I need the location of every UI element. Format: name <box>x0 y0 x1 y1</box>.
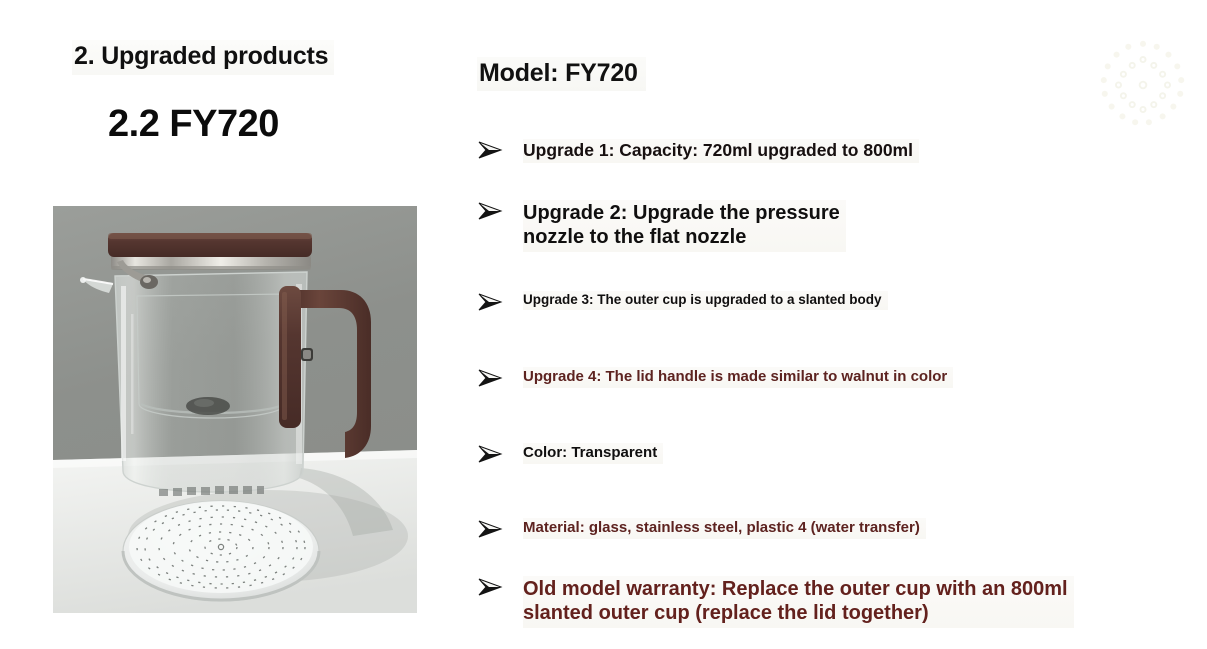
arrow-bullet-icon <box>477 444 507 464</box>
list-item-label: Upgrade 3: The outer cup is upgraded to … <box>523 291 888 310</box>
product-photo <box>53 206 417 613</box>
arrow-bullet-icon <box>477 292 507 312</box>
list-item: Upgrade 4: The lid handle is made simila… <box>477 367 953 388</box>
arrow-bullet-icon <box>477 368 507 388</box>
slide-canvas: 2. Upgraded products 2.2 FY720 <box>0 0 1207 649</box>
section-heading: 2. Upgraded products <box>72 40 334 75</box>
list-item-label: Upgrade 1: Capacity: 720ml upgraded to 8… <box>523 139 919 163</box>
list-item: Upgrade 2: Upgrade the pressure nozzle t… <box>477 200 846 252</box>
list-item: Upgrade 3: The outer cup is upgraded to … <box>477 291 888 311</box>
list-item: Old model warranty: Replace the outer cu… <box>477 576 1074 628</box>
page-title: 2.2 FY720 <box>108 103 279 146</box>
list-item-label: Old model warranty: Replace the outer cu… <box>523 576 1074 628</box>
list-item: Color: Transparent <box>477 443 663 464</box>
arrow-bullet-icon <box>477 577 507 597</box>
list-item-label: Material: glass, stainless steel, plasti… <box>523 518 926 539</box>
list-item-label: Upgrade 4: The lid handle is made simila… <box>523 367 953 388</box>
logo-watermark-icon <box>1094 36 1192 134</box>
list-item-label: Color: Transparent <box>523 443 663 464</box>
arrow-bullet-icon <box>477 201 507 221</box>
list-item-label: Upgrade 2: Upgrade the pressure nozzle t… <box>523 200 846 252</box>
model-title: Model: FY720 <box>477 57 646 91</box>
list-item: Upgrade 1: Capacity: 720ml upgraded to 8… <box>477 139 919 163</box>
arrow-bullet-icon <box>477 140 507 160</box>
list-item: Material: glass, stainless steel, plasti… <box>477 518 926 539</box>
arrow-bullet-icon <box>477 519 507 539</box>
